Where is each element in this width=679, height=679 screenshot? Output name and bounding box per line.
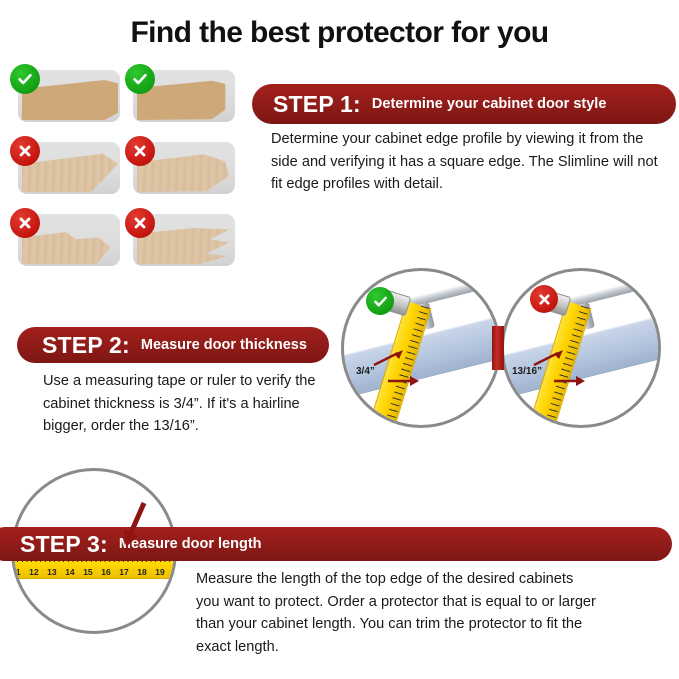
wood-sample-cove-detail-edge[interactable] bbox=[123, 210, 235, 268]
check-circle-icon bbox=[125, 64, 155, 94]
infographic-page: { "title": "Find the best protector for … bbox=[0, 0, 679, 679]
step-2-body: Use a measuring tape or ruler to verify … bbox=[43, 370, 343, 438]
x-circle-icon bbox=[10, 208, 40, 238]
thickness-measurement-label: 3/4” bbox=[356, 366, 375, 377]
thickness-measurement-label: 13/16” bbox=[512, 366, 542, 377]
tape-number-row: 11 12 13 14 15 16 17 18 19 20 bbox=[11, 567, 177, 577]
step-2-label: STEP 2: bbox=[42, 332, 130, 359]
step-3-label: STEP 3: bbox=[20, 531, 108, 558]
step-2-subtitle: Measure door thickness bbox=[141, 337, 307, 353]
step-2-banner: STEP 2: Measure door thickness bbox=[17, 327, 329, 363]
tape-number: 13 bbox=[47, 567, 56, 577]
tape-number: 16 bbox=[101, 567, 110, 577]
tape-number: 14 bbox=[65, 567, 74, 577]
measure-arrow-upper-icon bbox=[372, 349, 406, 367]
step-1-subtitle: Determine your cabinet door style bbox=[372, 96, 606, 112]
wood-sample-ogee-edge[interactable] bbox=[8, 210, 120, 268]
wood-profile-grid bbox=[8, 66, 248, 266]
x-circle-icon bbox=[530, 285, 558, 313]
step-1-label: STEP 1: bbox=[273, 91, 361, 118]
thickness-correct-photo: 3/4” bbox=[341, 268, 501, 428]
wood-sample-square-edge-2[interactable] bbox=[123, 66, 235, 124]
x-circle-icon bbox=[10, 136, 40, 166]
wood-sample-bullnose-edge[interactable] bbox=[123, 138, 235, 196]
step-3-body: Measure the length of the top edge of th… bbox=[196, 568, 596, 658]
wood-sample-square-edge-1[interactable] bbox=[8, 66, 120, 124]
measure-arrow-lower-icon bbox=[552, 373, 588, 389]
check-circle-icon bbox=[366, 287, 394, 315]
tape-number: 12 bbox=[29, 567, 38, 577]
check-circle-icon bbox=[10, 64, 40, 94]
page-title: Find the best protector for you bbox=[0, 16, 679, 50]
x-circle-icon bbox=[125, 136, 155, 166]
step-3-banner: STEP 3: Measure door length bbox=[0, 527, 672, 561]
tape-number: 17 bbox=[119, 567, 128, 577]
x-circle-icon bbox=[125, 208, 155, 238]
tape-number-highlight: 20 bbox=[173, 567, 177, 577]
tape-number: 19 bbox=[155, 567, 164, 577]
wood-sample-bevel-edge[interactable] bbox=[8, 138, 120, 196]
step-1-banner: STEP 1: Determine your cabinet door styl… bbox=[252, 84, 676, 124]
measure-arrow-upper-icon bbox=[532, 349, 566, 367]
thickness-incorrect-photo: 13/16” bbox=[501, 268, 661, 428]
step-1-body: Determine your cabinet edge profile by v… bbox=[271, 128, 671, 196]
circle-connector-bar bbox=[492, 326, 504, 370]
length-end-arrow-icon bbox=[118, 499, 152, 551]
tape-number: 11 bbox=[12, 567, 21, 577]
measure-arrow-lower-icon bbox=[386, 373, 422, 389]
tape-number: 18 bbox=[137, 567, 146, 577]
tape-number: 15 bbox=[83, 567, 92, 577]
